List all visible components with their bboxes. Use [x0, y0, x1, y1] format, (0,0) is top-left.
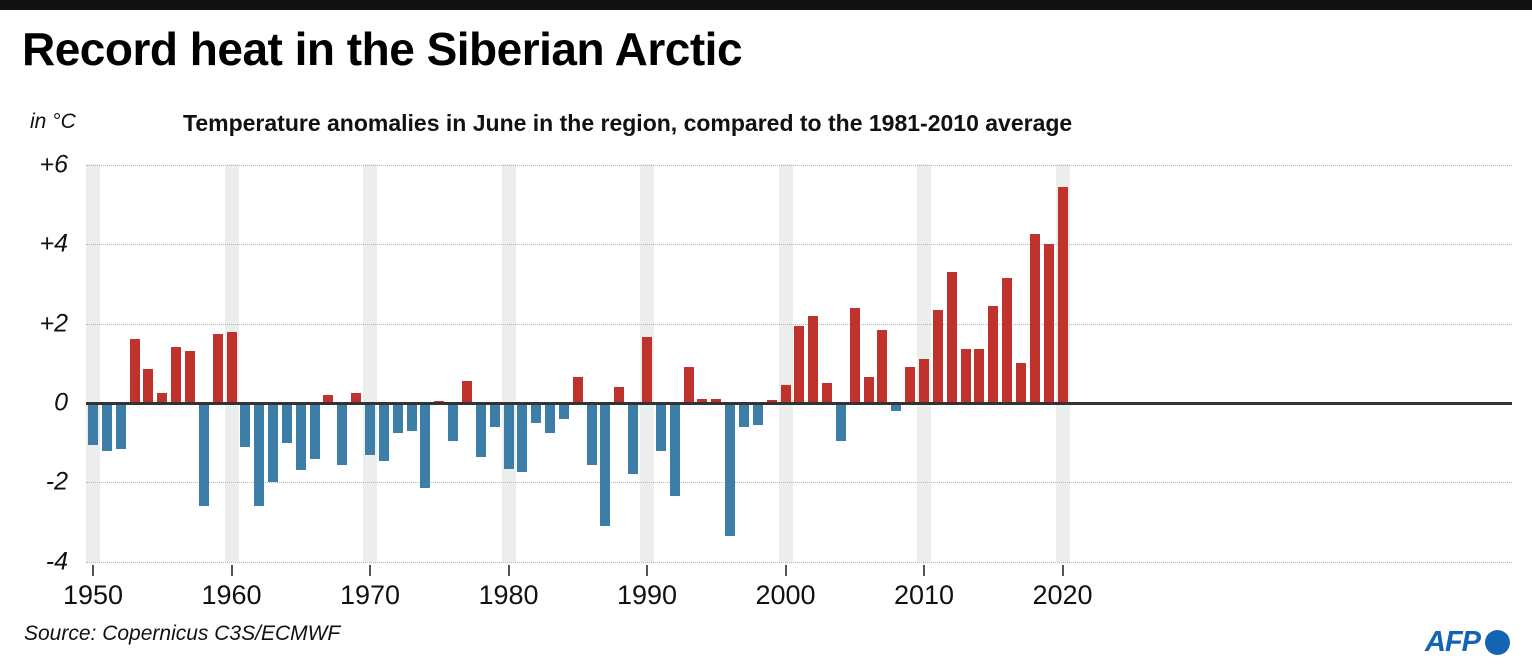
- bar-1991[interactable]: [656, 403, 666, 451]
- bar-1980[interactable]: [504, 403, 514, 469]
- x-axis-tick: [508, 565, 510, 576]
- x-axis-tick: [231, 565, 233, 576]
- bar-1984[interactable]: [559, 403, 569, 419]
- bar-1959[interactable]: [213, 334, 223, 403]
- y-axis-tick-label: +2: [8, 309, 68, 338]
- decade-band: [86, 164, 100, 562]
- bar-2011[interactable]: [933, 310, 943, 403]
- bar-1973[interactable]: [407, 403, 417, 431]
- gridline: [86, 324, 1512, 325]
- bar-2013[interactable]: [961, 349, 971, 403]
- bar-2003[interactable]: [822, 383, 832, 403]
- bar-2012[interactable]: [947, 272, 957, 403]
- decade-band: [779, 164, 793, 562]
- gridline: [86, 244, 1512, 245]
- x-axis-tick-label: 1990: [592, 580, 702, 611]
- bar-chart: +6+4+20-2-419501960197019801990200020102…: [0, 0, 1532, 668]
- bar-1990[interactable]: [642, 337, 652, 403]
- x-axis-tick-label: 2010: [869, 580, 979, 611]
- y-axis-tick-label: -4: [8, 547, 68, 576]
- bar-1971[interactable]: [379, 403, 389, 461]
- bar-1961[interactable]: [240, 403, 250, 447]
- bar-1998[interactable]: [753, 403, 763, 425]
- bar-2015[interactable]: [988, 306, 998, 403]
- bar-1968[interactable]: [337, 403, 347, 465]
- source-note: Source: Copernicus C3S/ECMWF: [24, 622, 340, 646]
- bar-1979[interactable]: [490, 403, 500, 427]
- bar-1978[interactable]: [476, 403, 486, 457]
- afp-logo: AFP: [1425, 626, 1510, 659]
- bar-1985[interactable]: [573, 377, 583, 403]
- afp-dot-icon: [1485, 630, 1510, 655]
- bar-2020[interactable]: [1058, 187, 1068, 403]
- y-axis-tick-label: +6: [8, 150, 68, 179]
- bar-1983[interactable]: [545, 403, 555, 433]
- bar-2004[interactable]: [836, 403, 846, 441]
- afp-logo-text: AFP: [1425, 626, 1480, 659]
- bar-1972[interactable]: [393, 403, 403, 433]
- bar-1993[interactable]: [684, 367, 694, 403]
- y-axis-tick-label: -2: [8, 468, 68, 497]
- bar-2014[interactable]: [974, 349, 984, 403]
- x-axis-tick-label: 2020: [1008, 580, 1118, 611]
- bar-1962[interactable]: [254, 403, 264, 506]
- x-axis-tick-label: 1960: [177, 580, 287, 611]
- bar-1982[interactable]: [531, 403, 541, 423]
- bar-1986[interactable]: [587, 403, 597, 465]
- bar-1992[interactable]: [670, 403, 680, 496]
- decade-band: [363, 164, 377, 562]
- bar-2016[interactable]: [1002, 278, 1012, 403]
- gridline: [86, 165, 1512, 166]
- bar-1958[interactable]: [199, 403, 209, 506]
- bar-1989[interactable]: [628, 403, 638, 474]
- x-axis-tick: [646, 565, 648, 576]
- bar-2005[interactable]: [850, 308, 860, 403]
- x-axis-tick: [923, 565, 925, 576]
- x-axis-tick: [1062, 565, 1064, 576]
- bar-2002[interactable]: [808, 316, 818, 403]
- bar-1950[interactable]: [88, 403, 98, 445]
- bar-1988[interactable]: [614, 387, 624, 403]
- bar-2019[interactable]: [1044, 244, 1054, 403]
- zero-axis-line: [86, 402, 1512, 405]
- bar-1996[interactable]: [725, 403, 735, 536]
- x-axis-tick: [785, 565, 787, 576]
- x-axis-tick-label: 1970: [315, 580, 425, 611]
- x-axis-tick-label: 1950: [38, 580, 148, 611]
- bar-1977[interactable]: [462, 381, 472, 403]
- bar-1964[interactable]: [282, 403, 292, 443]
- bar-1957[interactable]: [185, 351, 195, 403]
- bar-1963[interactable]: [268, 403, 278, 482]
- bar-1953[interactable]: [130, 339, 140, 403]
- bar-2010[interactable]: [919, 359, 929, 403]
- bar-1951[interactable]: [102, 403, 112, 451]
- bar-1956[interactable]: [171, 347, 181, 403]
- bar-1974[interactable]: [420, 403, 430, 488]
- bar-1976[interactable]: [448, 403, 458, 441]
- bar-1965[interactable]: [296, 403, 306, 470]
- gridline: [86, 562, 1512, 563]
- bar-2006[interactable]: [864, 377, 874, 403]
- y-axis-tick-label: +4: [8, 230, 68, 259]
- bar-1966[interactable]: [310, 403, 320, 459]
- x-axis-tick-label: 1980: [454, 580, 564, 611]
- bar-2009[interactable]: [905, 367, 915, 403]
- bar-2017[interactable]: [1016, 363, 1026, 403]
- bar-2018[interactable]: [1030, 234, 1040, 403]
- bar-2001[interactable]: [794, 326, 804, 403]
- bar-1970[interactable]: [365, 403, 375, 455]
- x-axis-tick: [92, 565, 94, 576]
- y-axis-tick-label: 0: [8, 389, 68, 418]
- bar-1954[interactable]: [143, 369, 153, 403]
- bar-1960[interactable]: [227, 332, 237, 403]
- x-axis-tick-label: 2000: [731, 580, 841, 611]
- bar-2000[interactable]: [781, 385, 791, 403]
- bar-1997[interactable]: [739, 403, 749, 427]
- bar-1952[interactable]: [116, 403, 126, 449]
- bar-1981[interactable]: [517, 403, 527, 472]
- gridline: [86, 482, 1512, 483]
- bar-1987[interactable]: [600, 403, 610, 526]
- x-axis-tick: [369, 565, 371, 576]
- decade-band: [502, 164, 516, 562]
- bar-2007[interactable]: [877, 330, 887, 403]
